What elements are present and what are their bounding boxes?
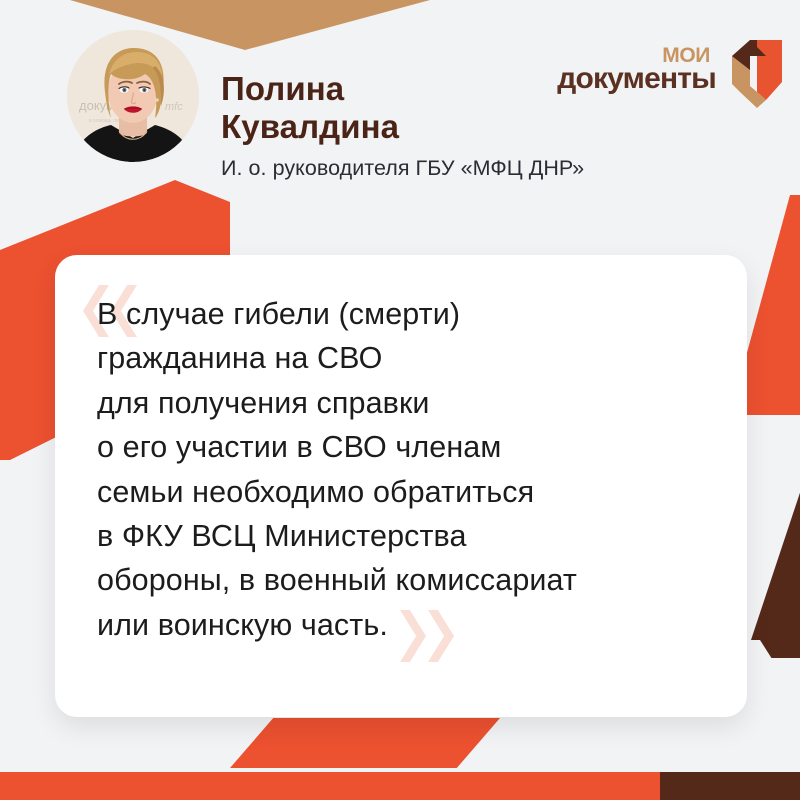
logo-dokumenty-text: документы (557, 62, 716, 96)
quote-card: В случае гибели (смерти) гражданина на С… (55, 255, 747, 717)
mfc-logo: МОИ документы (544, 18, 788, 108)
mfc-shield-icon (726, 26, 788, 110)
speaker-avatar: документы mfc в помощь людям (67, 30, 199, 162)
orange-bottom-parallelogram (230, 718, 500, 768)
poster-root: документы mfc в помощь людям (0, 0, 800, 800)
bottom-bar-brown (660, 772, 800, 800)
svg-text:mfc: mfc (165, 101, 183, 113)
speaker-role: И. о. руководителя ГБУ «МФЦ ДНР» (221, 156, 741, 181)
quote-text: В случае гибели (смерти) гражданина на С… (97, 292, 727, 647)
bottom-bar-orange (0, 772, 660, 800)
brown-right-shape (745, 418, 800, 658)
